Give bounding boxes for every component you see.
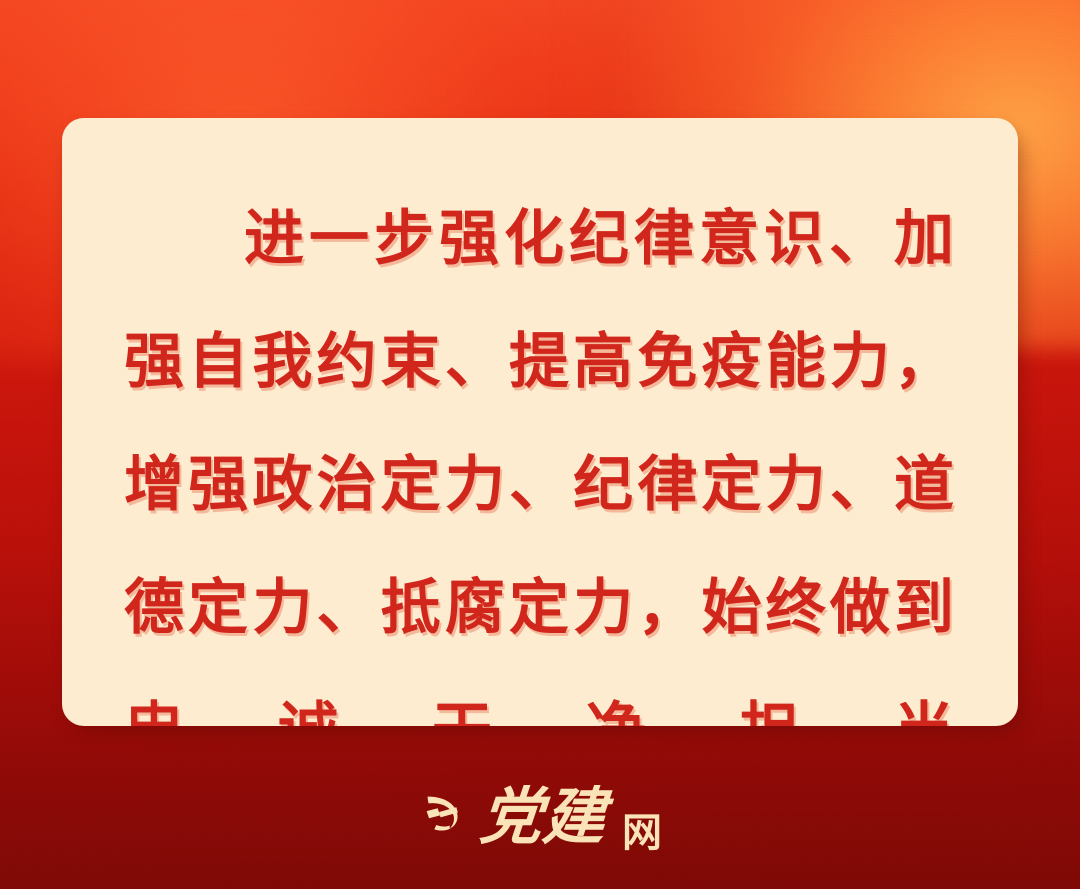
poster-canvas: 进一步强化纪律意识、加强自我约束、提高免疫能力，增强政治定力、纪律定力、道德定力… [0,0,1080,889]
site-logo[interactable]: 党建 网 [0,775,1080,861]
hammer-and-sickle-icon [418,789,466,837]
logo-brand-suffix: 网 [622,813,662,853]
logo-brand-text: 党建 [477,787,608,849]
quote-card: 进一步强化纪律意识、加强自我约束、提高免疫能力，增强政治定力、纪律定力、道德定力… [62,118,1018,726]
quote-text: 进一步强化纪律意识、加强自我约束、提高免疫能力，增强政治定力、纪律定力、道德定力… [124,178,956,726]
